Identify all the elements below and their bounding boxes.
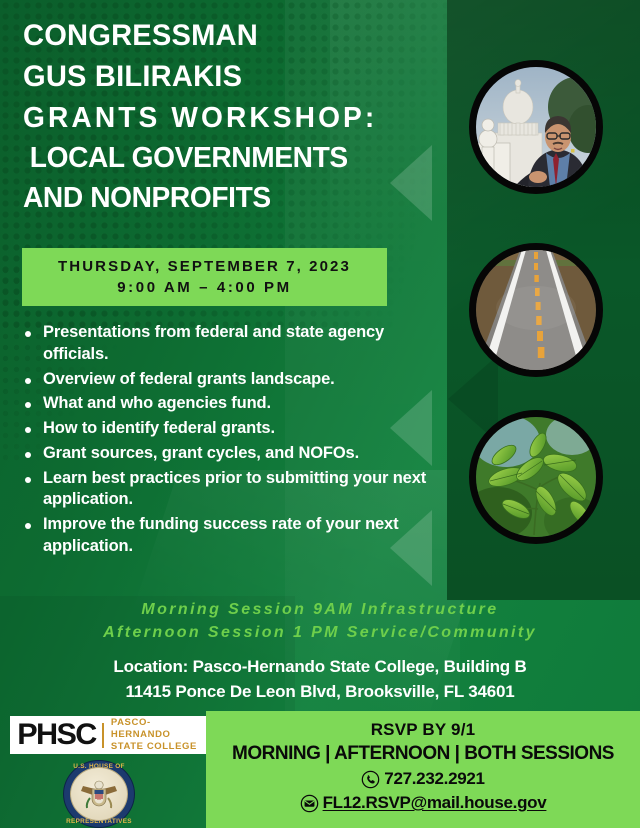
- agenda-bullet-list: Presentations from federal and state age…: [22, 322, 442, 561]
- rsvp-box: RSVP BY 9/1 MORNING | AFTERNOON | BOTH S…: [206, 711, 640, 828]
- event-time: 9:00 AM – 4:00 PM: [117, 279, 292, 296]
- morning-session-line: Morning Session 9AM Infrastructure: [0, 598, 640, 621]
- rsvp-deadline: RSVP BY 9/1: [206, 720, 640, 740]
- venue-address: Location: Pasco-Hernando State College, …: [0, 655, 640, 704]
- title-line-nonprofits: AND NONPROFITS: [23, 181, 430, 215]
- event-date: THURSDAY, SEPTEMBER 7, 2023: [58, 258, 351, 275]
- rsvp-session-options: MORNING | AFTERNOON | BOTH SESSIONS: [206, 743, 640, 765]
- phsc-subtext-line1: PASCO-HERNANDO: [111, 717, 206, 741]
- phsc-logo-subtext: PASCO-HERNANDO STATE COLLEGE: [104, 717, 206, 753]
- list-item: Presentations from federal and state age…: [22, 322, 442, 366]
- photo-congressman-portrait: [469, 60, 603, 194]
- title-line-congressman: CONGRESSMAN: [23, 18, 430, 53]
- list-item: What and who agencies fund.: [22, 393, 442, 415]
- list-item: How to identify federal grants.: [22, 418, 442, 440]
- venue-name-line: Location: Pasco-Hernando State College, …: [0, 655, 640, 680]
- page-title: CONGRESSMAN GUS BILIRAKIS GRANTS WORKSHO…: [23, 18, 443, 221]
- phone-icon: [361, 770, 380, 789]
- title-line-name: GUS BILIRAKIS: [23, 59, 430, 94]
- venue-street-line: 11415 Ponce De Leon Blvd, Brooksville, F…: [0, 680, 640, 705]
- list-item: Overview of federal grants landscape.: [22, 369, 442, 391]
- phsc-logo: PHSC PASCO-HERNANDO STATE COLLEGE: [10, 716, 206, 754]
- eagle-icon: [79, 776, 119, 812]
- photo-green-leaves: [469, 410, 603, 544]
- list-item: Improve the funding success rate of your…: [22, 514, 442, 558]
- session-schedule: Morning Session 9AM Infrastructure After…: [0, 598, 640, 644]
- flyer-canvas: CONGRESSMAN GUS BILIRAKIS GRANTS WORKSHO…: [0, 0, 640, 828]
- congressman-portrait-illustration: [476, 67, 596, 187]
- leaves-illustration: [476, 417, 596, 537]
- rsvp-phone-row[interactable]: 727.232.2921: [206, 769, 640, 789]
- seal-inner-disc: [70, 767, 128, 821]
- list-item: Learn best practices prior to submitting…: [22, 468, 442, 512]
- road-illustration: [476, 250, 596, 370]
- rsvp-phone-number[interactable]: 727.232.2921: [384, 769, 484, 789]
- title-line-local-governments: LOCAL GOVERNMENTS: [23, 141, 430, 175]
- photo-road-infrastructure: [469, 243, 603, 377]
- us-house-seal: U.S. HOUSE OF REPRESENTATIVES: [63, 760, 135, 828]
- envelope-icon: [300, 794, 319, 813]
- phsc-wordmark: PHSC: [9, 718, 103, 752]
- phsc-subtext-line2: STATE COLLEGE: [111, 741, 206, 753]
- afternoon-session-line: Afternoon Session 1 PM Service/Community: [0, 621, 640, 644]
- rsvp-email-address[interactable]: FL12.RSVP@mail.house.gov: [323, 793, 547, 813]
- rsvp-email-row[interactable]: FL12.RSVP@mail.house.gov: [206, 793, 640, 813]
- title-line-workshop: GRANTS WORKSHOP:: [23, 101, 430, 135]
- date-time-banner: THURSDAY, SEPTEMBER 7, 2023 9:00 AM – 4:…: [22, 248, 387, 306]
- list-item: Grant sources, grant cycles, and NOFOs.: [22, 443, 442, 465]
